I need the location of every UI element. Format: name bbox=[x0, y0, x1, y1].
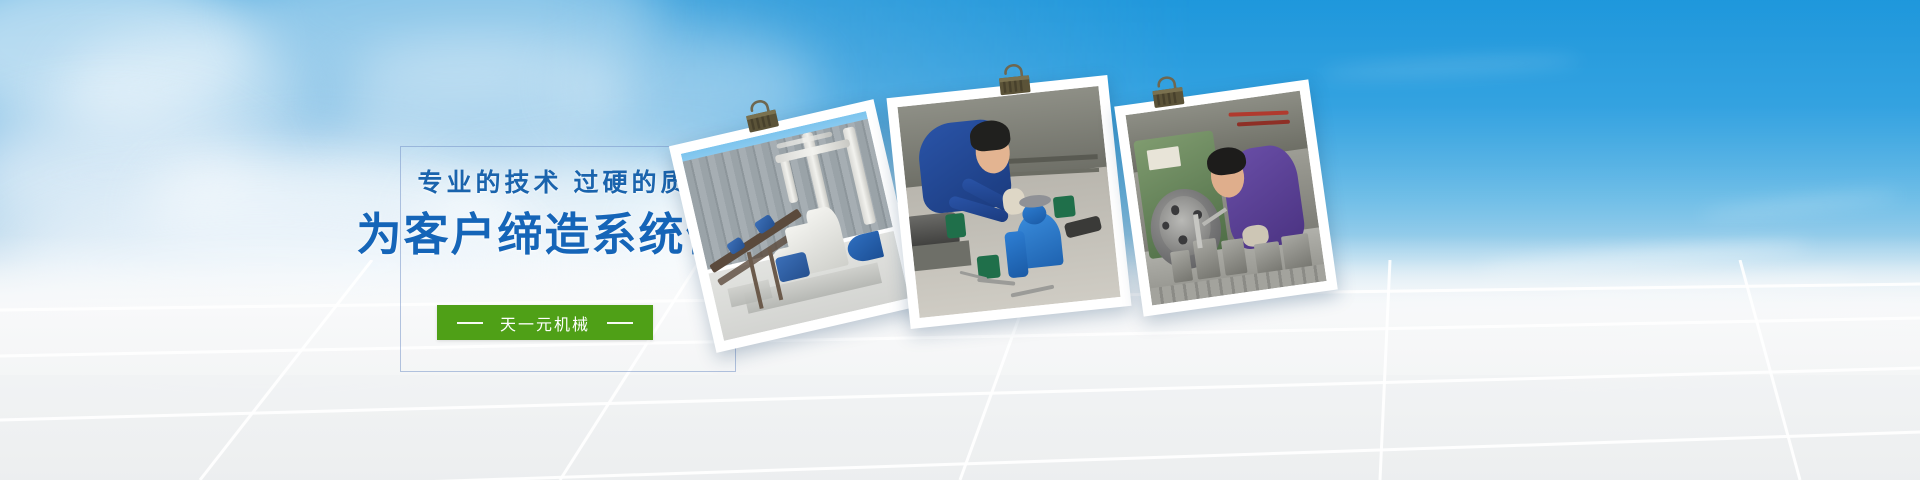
photo-worker-lathe[interactable] bbox=[1114, 79, 1338, 316]
photo-factory-line-image bbox=[681, 111, 909, 341]
photo-worker-gearbox[interactable] bbox=[886, 75, 1131, 329]
photo-factory-line[interactable] bbox=[669, 99, 921, 353]
photo-collage bbox=[0, 0, 1920, 480]
photo-worker-lathe-image bbox=[1125, 91, 1326, 306]
hero-banner: 专业的技术 过硬的质量 为客户缔造系统价值 天一元机械 bbox=[0, 0, 1920, 480]
photo-worker-gearbox-image bbox=[897, 86, 1120, 318]
